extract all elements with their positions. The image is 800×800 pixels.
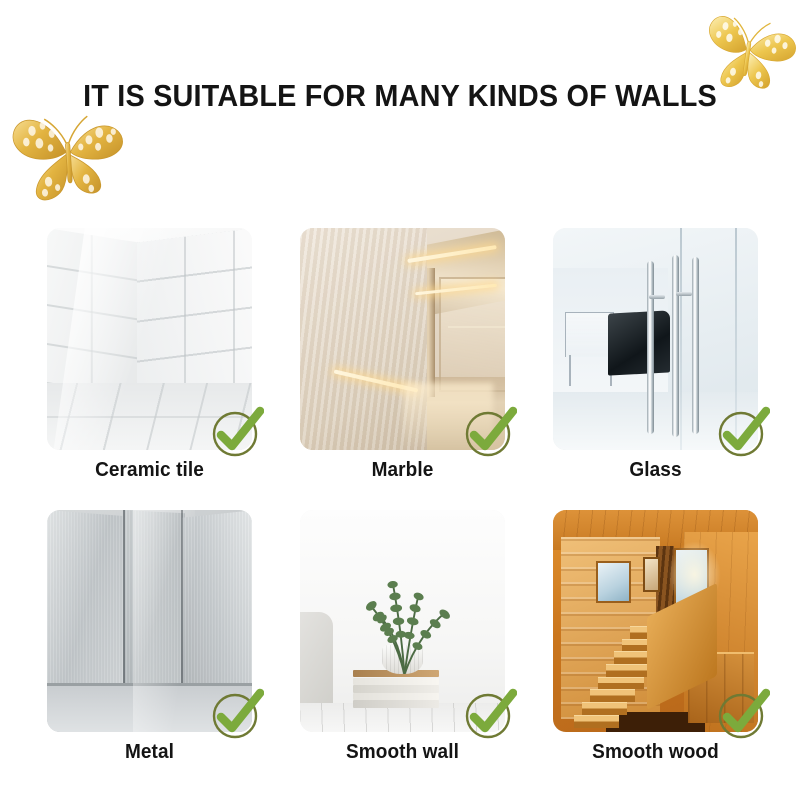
butterfly-icon [0,92,138,209]
green-check-circle-icon [208,686,264,742]
surface-photo-metal[interactable] [47,510,252,732]
surface-card-smooth-wall[interactable]: Smooth wall [300,510,505,764]
surface-card-glass[interactable]: Glass [553,228,758,482]
surface-card-metal[interactable]: Metal [47,510,252,764]
green-check-circle-icon [714,404,770,460]
butterfly-icon [688,0,800,103]
surface-label-marble: Marble [305,459,500,482]
surface-photo-marble[interactable] [300,228,505,450]
surface-label-smooth-wall: Smooth wall [305,741,500,764]
surface-label-smooth-wood: Smooth wood [558,741,753,764]
surface-card-marble[interactable]: Marble [300,228,505,482]
green-check-circle-icon [461,686,517,742]
eucalyptus-plant-icon [345,568,464,675]
surface-photo-ceramic-tile[interactable] [47,228,252,450]
surface-card-ceramic-tile[interactable]: Ceramic tile [47,228,252,482]
green-check-circle-icon [208,404,264,460]
surface-grid: Ceramic tile Marble [47,228,754,764]
surface-label-metal: Metal [52,741,247,764]
surface-photo-smooth-wall[interactable] [300,510,505,732]
surface-photo-smooth-wood[interactable] [553,510,758,732]
green-check-circle-icon [461,404,517,460]
surface-photo-glass[interactable] [553,228,758,450]
surface-label-glass: Glass [558,459,753,482]
page-title: IT IS SUITABLE FOR MANY KINDS OF WALLS [28,78,772,114]
green-check-circle-icon [714,686,770,742]
surface-card-smooth-wood[interactable]: Smooth wood [553,510,758,764]
surface-label-ceramic-tile: Ceramic tile [52,459,247,482]
